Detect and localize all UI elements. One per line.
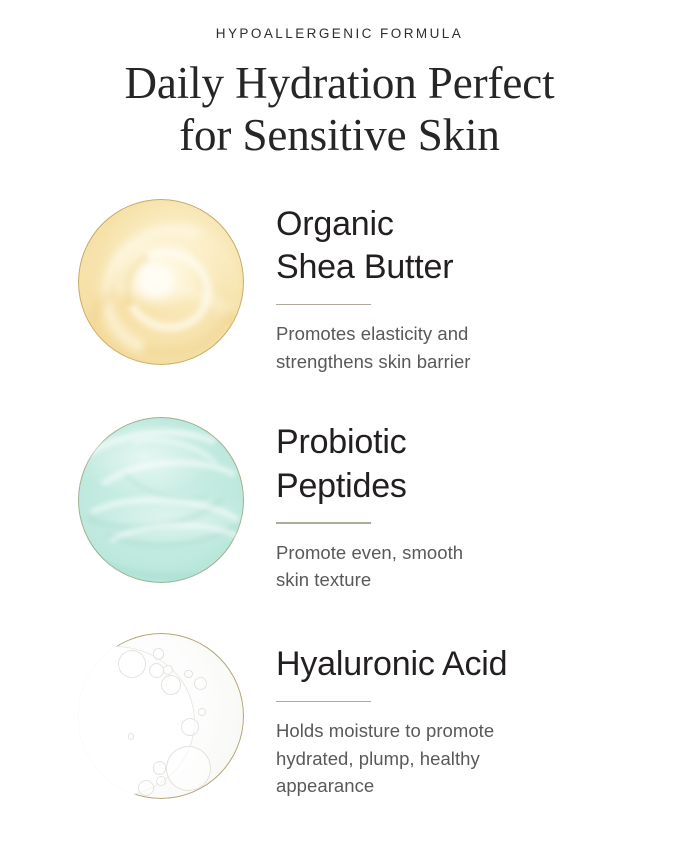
- bubble-icon: [184, 670, 192, 678]
- page-title: Daily Hydration Perfect for Sensitive Sk…: [0, 57, 679, 161]
- description-line-2: hydrated, plump, healthy: [276, 745, 679, 772]
- gel-texture-icon: [78, 417, 244, 583]
- header: HYPOALLERGENIC FORMULA Daily Hydration P…: [0, 0, 679, 161]
- cream-swirl-icon: [81, 269, 244, 365]
- gel-ripple-icon: [78, 492, 244, 583]
- ingredient-description: Holds moisture to promote hydrated, plum…: [276, 717, 679, 799]
- ingredient-title-line-1: Probiotic: [276, 421, 679, 465]
- description-line-2: skin texture: [276, 566, 679, 593]
- ingredient-title-line-2: Shea Butter: [276, 246, 679, 290]
- description-line-3: appearance: [276, 772, 679, 799]
- shea-butter-texture-icon: [78, 199, 244, 365]
- ingredient-title-line-2: Peptides: [276, 465, 679, 509]
- divider: [276, 522, 371, 524]
- serum-mass-icon: [78, 647, 194, 796]
- cream-highlight-icon: [138, 265, 175, 298]
- ingredient-description: Promotes elasticity and strengthens skin…: [276, 320, 679, 375]
- ingredient-content: Probiotic Peptides Promote even, smooth …: [244, 417, 679, 593]
- ingredient-description: Promote even, smooth skin texture: [276, 539, 679, 594]
- shea-butter-swatch: [78, 199, 244, 365]
- cream-swirl-icon: [112, 237, 222, 343]
- gel-ripple-icon: [78, 418, 244, 542]
- ingredient-title: Hyaluronic Acid: [276, 643, 679, 687]
- probiotic-peptides-swatch: [78, 417, 244, 583]
- cream-swirl-icon: [80, 204, 244, 365]
- divider: [276, 304, 371, 306]
- ingredient-title: Probiotic Peptides: [276, 421, 679, 508]
- bubble-icon: [198, 708, 206, 716]
- divider: [276, 701, 371, 703]
- ingredient-title: Organic Shea Butter: [276, 203, 679, 290]
- serum-texture-icon: [78, 633, 244, 799]
- description-line-2: strengthens skin barrier: [276, 348, 679, 375]
- ingredient-item-probiotic-peptides: Probiotic Peptides Promote even, smooth …: [0, 417, 679, 593]
- ingredient-item-shea-butter: Organic Shea Butter Promotes elasticity …: [0, 199, 679, 375]
- ingredient-list: Organic Shea Butter Promotes elasticity …: [0, 199, 679, 800]
- description-line-1: Promote even, smooth: [276, 539, 679, 566]
- ingredient-title-line-1: Organic: [276, 203, 679, 247]
- headline-line-2: for Sensitive Skin: [55, 109, 624, 161]
- description-line-1: Holds moisture to promote: [276, 717, 679, 744]
- ingredient-content: Organic Shea Butter Promotes elasticity …: [244, 199, 679, 375]
- ingredient-title-line-1: Hyaluronic Acid: [276, 643, 679, 687]
- headline-line-1: Daily Hydration Perfect: [55, 57, 624, 109]
- gel-ripple-icon: [109, 428, 231, 511]
- eyebrow-text: HYPOALLERGENIC FORMULA: [0, 27, 679, 41]
- gel-ripple-icon: [82, 454, 244, 554]
- hyaluronic-acid-swatch: [78, 633, 244, 799]
- ingredient-item-hyaluronic-acid: Hyaluronic Acid Holds moisture to promot…: [0, 633, 679, 799]
- gel-ripple-icon: [93, 521, 244, 584]
- bubble-icon: [194, 677, 207, 690]
- description-line-1: Promotes elasticity and: [276, 320, 679, 347]
- ingredient-content: Hyaluronic Acid Holds moisture to promot…: [244, 633, 679, 799]
